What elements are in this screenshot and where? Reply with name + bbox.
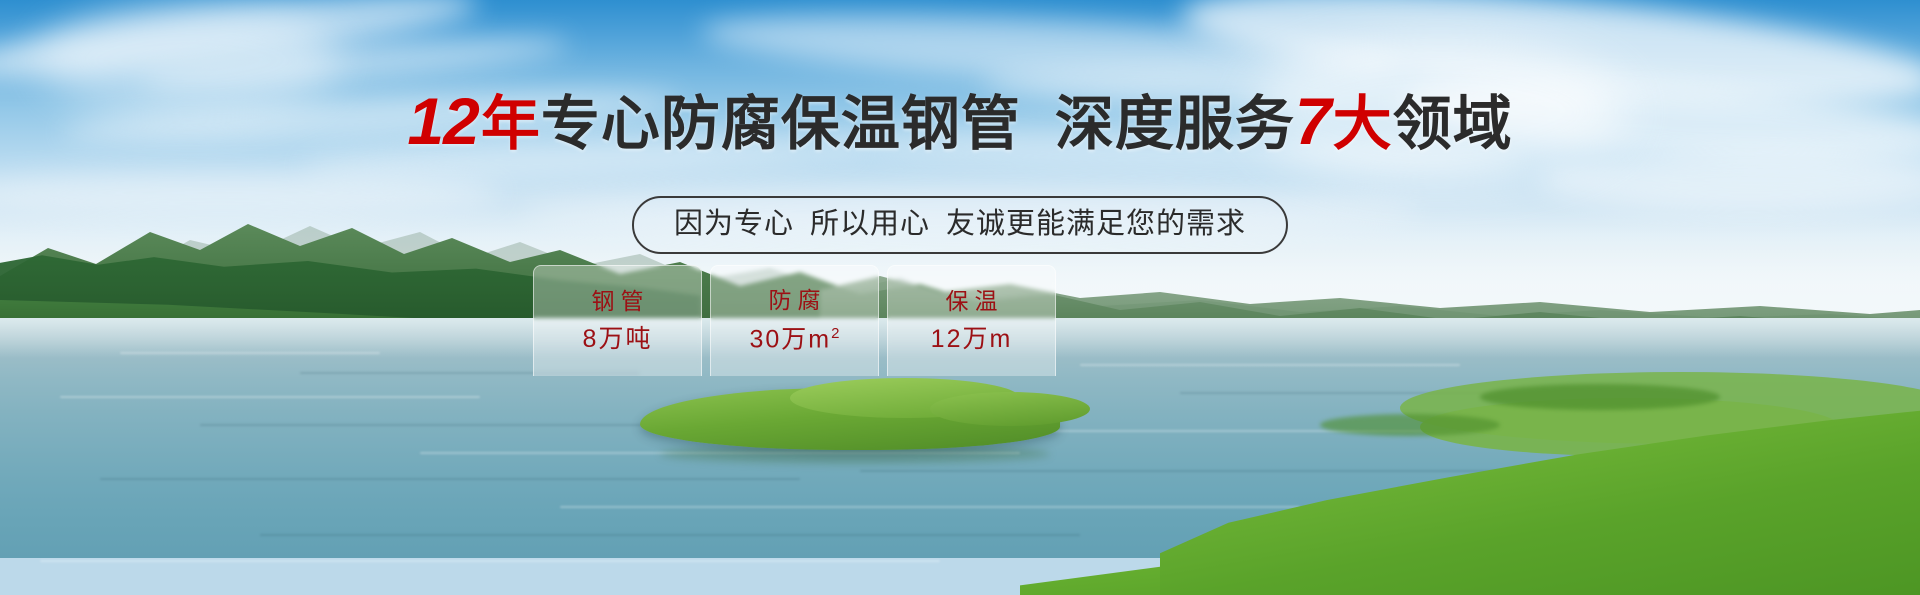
stat-card-anticorrosion: 防腐 30万m2	[710, 265, 879, 376]
stat-value-steel-pipe: 8万吨	[583, 327, 653, 352]
stat-card-insulation: 保温 12万m	[887, 265, 1056, 376]
subtitle-segment-1: 因为专心	[674, 208, 794, 240]
stat-value-insulation: 12万m	[931, 327, 1013, 352]
subtitle-segment-2: 所以用心	[810, 208, 930, 240]
hero-banner: 12年专心防腐保温钢管深度服务7大领域 因为专心所以用心友诚更能满足您的需求 钢…	[0, 0, 1920, 595]
headline-part-2: 深度服务	[1055, 91, 1295, 157]
headline-highlight-number: 7	[1295, 84, 1333, 158]
headline-part-1: 专心防腐保温钢管	[541, 91, 1021, 157]
headline-part-3: 领域	[1393, 91, 1513, 157]
stat-card-steel-pipe: 钢管 8万吨	[533, 265, 702, 376]
subtitle-segment-3: 友诚更能满足您的需求	[946, 208, 1246, 240]
stat-unit-superscript-anticorrosion: 2	[831, 325, 839, 342]
headline-highlight-unit: 大	[1333, 91, 1393, 157]
headline-years-unit: 年	[481, 91, 541, 157]
stat-value-anticorrosion: 30万m2	[750, 326, 840, 352]
headline-years-number: 12	[407, 84, 480, 158]
stats-card-group: 钢管 8万吨 防腐 30万m2 保温 12万m	[533, 265, 1056, 376]
subtitle-pill: 因为专心所以用心友诚更能满足您的需求	[632, 196, 1288, 254]
page-title: 12年专心防腐保温钢管深度服务7大领域	[0, 88, 1920, 154]
stat-title-steel-pipe: 钢管	[586, 290, 650, 313]
stat-title-anticorrosion: 防腐	[763, 289, 827, 312]
stat-title-insulation: 保温	[940, 290, 1004, 313]
